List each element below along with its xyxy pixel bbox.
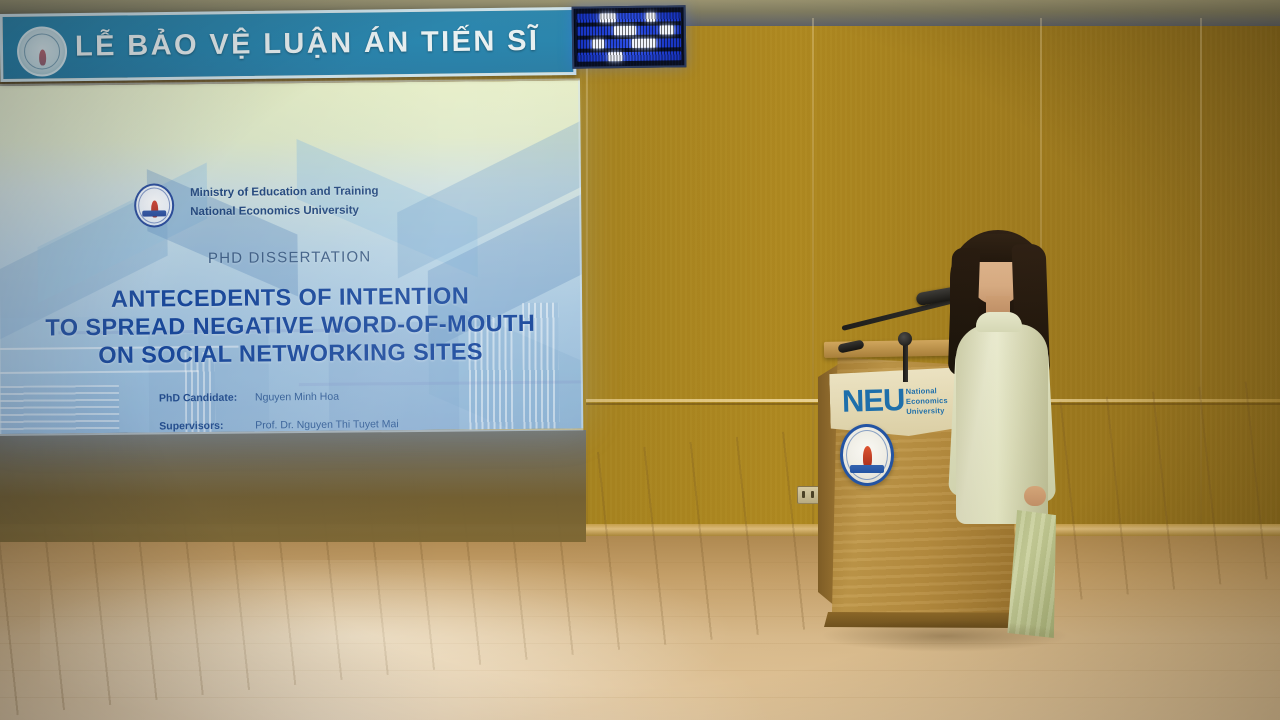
neu-acronym: NEU — [842, 384, 905, 417]
slide-credits: PhD Candidate:Nguyen Minh Hoa Supervisor… — [159, 387, 580, 434]
presenter — [928, 228, 1068, 640]
candidate-name: Nguyen Minh Hoa — [255, 391, 339, 404]
led-sign — [572, 5, 687, 69]
neu-crest-icon — [134, 183, 174, 227]
presenter-hand — [1024, 486, 1046, 506]
slide-title: ANTECEDENTS OF INTENTION TO SPREAD NEGAT… — [0, 280, 583, 370]
neu-emblem-icon — [840, 424, 894, 486]
title-line-2: TO SPREAD NEGATIVE WORD-OF-MOUTH — [0, 308, 582, 342]
hall-banner: LỄ BẢO VỆ LUẬN ÁN TIẾN SĨ — [0, 14, 576, 82]
presentation-slide: Ministry of Education and Training Natio… — [0, 80, 583, 434]
candidate-row: PhD Candidate:Nguyen Minh Hoa — [159, 387, 579, 405]
banner-text: LỄ BẢO VỆ LUẬN ÁN TIẾN SĨ — [75, 25, 540, 64]
mic-post — [903, 342, 908, 382]
title-line-3: ON SOCIAL NETWORKING SITES — [0, 336, 583, 370]
slide-graphic-stripes — [0, 385, 119, 434]
mic-counterweight — [837, 339, 864, 353]
candidate-label: PhD Candidate: — [159, 391, 255, 406]
presentation-hall-photo: Ministry of Education and Training Natio… — [0, 0, 1280, 720]
projection-screen: Ministry of Education and Training Natio… — [0, 80, 583, 434]
wall-below-screen-glow — [0, 430, 586, 542]
supervisors-label: Supervisors: — [159, 419, 255, 434]
slide-organization: Ministry of Education and Training Natio… — [190, 181, 490, 222]
presenter-ao-dai-folds — [1002, 510, 1056, 638]
university-line: National Economics University — [190, 200, 490, 222]
banner-seal-icon — [17, 26, 68, 77]
supervisor-1: Prof. Dr. Nguyen Thi Tuyet Mai — [255, 418, 398, 431]
mic-joint — [898, 332, 912, 346]
presenter-collar — [976, 312, 1022, 332]
floor-plank-joints — [0, 536, 1280, 720]
lectern-floor-shadow — [820, 620, 1070, 652]
